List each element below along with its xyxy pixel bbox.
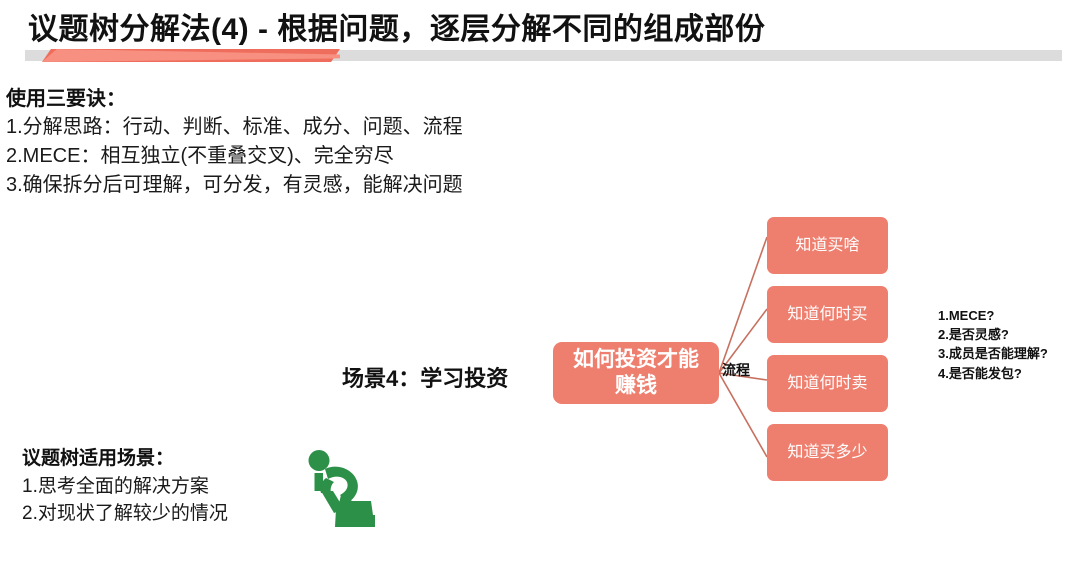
checklist-item-1: 1.MECE? — [938, 306, 1078, 325]
thinker-icon — [297, 447, 375, 535]
diagram-root-node[interactable]: 如何投资才能 赚钱 — [553, 342, 719, 404]
checklist-item-4: 4.是否能发包? — [938, 364, 1078, 383]
diagram-root-line-1: 如何投资才能 — [573, 348, 699, 371]
keypoints-line-1: 1.分解思路：行动、判断、标准、成分、问题、流程 — [6, 113, 626, 142]
scene-label: 场景4：学习投资 — [342, 361, 508, 393]
page-title: 议题树分解法(4) - 根据问题，逐层分解不同的组成部份 — [28, 4, 765, 48]
title-divider — [0, 48, 1080, 64]
keypoints-line-3: 3.确保拆分后可理解，可分发，有灵感，能解决问题 — [6, 171, 626, 200]
diagram-leaf-node-4[interactable]: 知道买多少 — [767, 424, 888, 481]
checklist-item-2: 2.是否灵感? — [938, 325, 1078, 344]
diagram-leaf-node-2[interactable]: 知道何时买 — [767, 286, 888, 343]
diagram-leaf-node-3[interactable]: 知道何时卖 — [767, 355, 888, 412]
validation-checklist: 1.MECE? 2.是否灵感? 3.成员是否能理解? 4.是否能发包? — [938, 306, 1078, 383]
keypoints-block: 使用三要诀： 1.分解思路：行动、判断、标准、成分、问题、流程 2.MECE：相… — [6, 86, 626, 200]
checklist-item-3: 3.成员是否能理解? — [938, 344, 1078, 363]
issue-tree-diagram: 如何投资才能 赚钱 流程 知道买啥 知道何时买 知道何时卖 知道买多少 — [545, 205, 905, 495]
diagram-leaf-node-1[interactable]: 知道买啥 — [767, 217, 888, 274]
usecases-line-1: 1.思考全面的解决方案 — [22, 473, 322, 501]
usecases-block: 议题树适用场景： 1.思考全面的解决方案 2.对现状了解较少的情况 — [22, 446, 322, 528]
diagram-edge-label: 流程 — [722, 363, 750, 377]
usecases-line-2: 2.对现状了解较少的情况 — [22, 500, 322, 528]
keypoints-line-2: 2.MECE：相互独立(不重叠交叉)、完全穷尽 — [6, 142, 626, 171]
keypoints-heading: 使用三要诀： — [6, 86, 626, 113]
diagram-root-line-2: 赚钱 — [615, 374, 657, 397]
usecases-heading: 议题树适用场景： — [22, 446, 322, 473]
